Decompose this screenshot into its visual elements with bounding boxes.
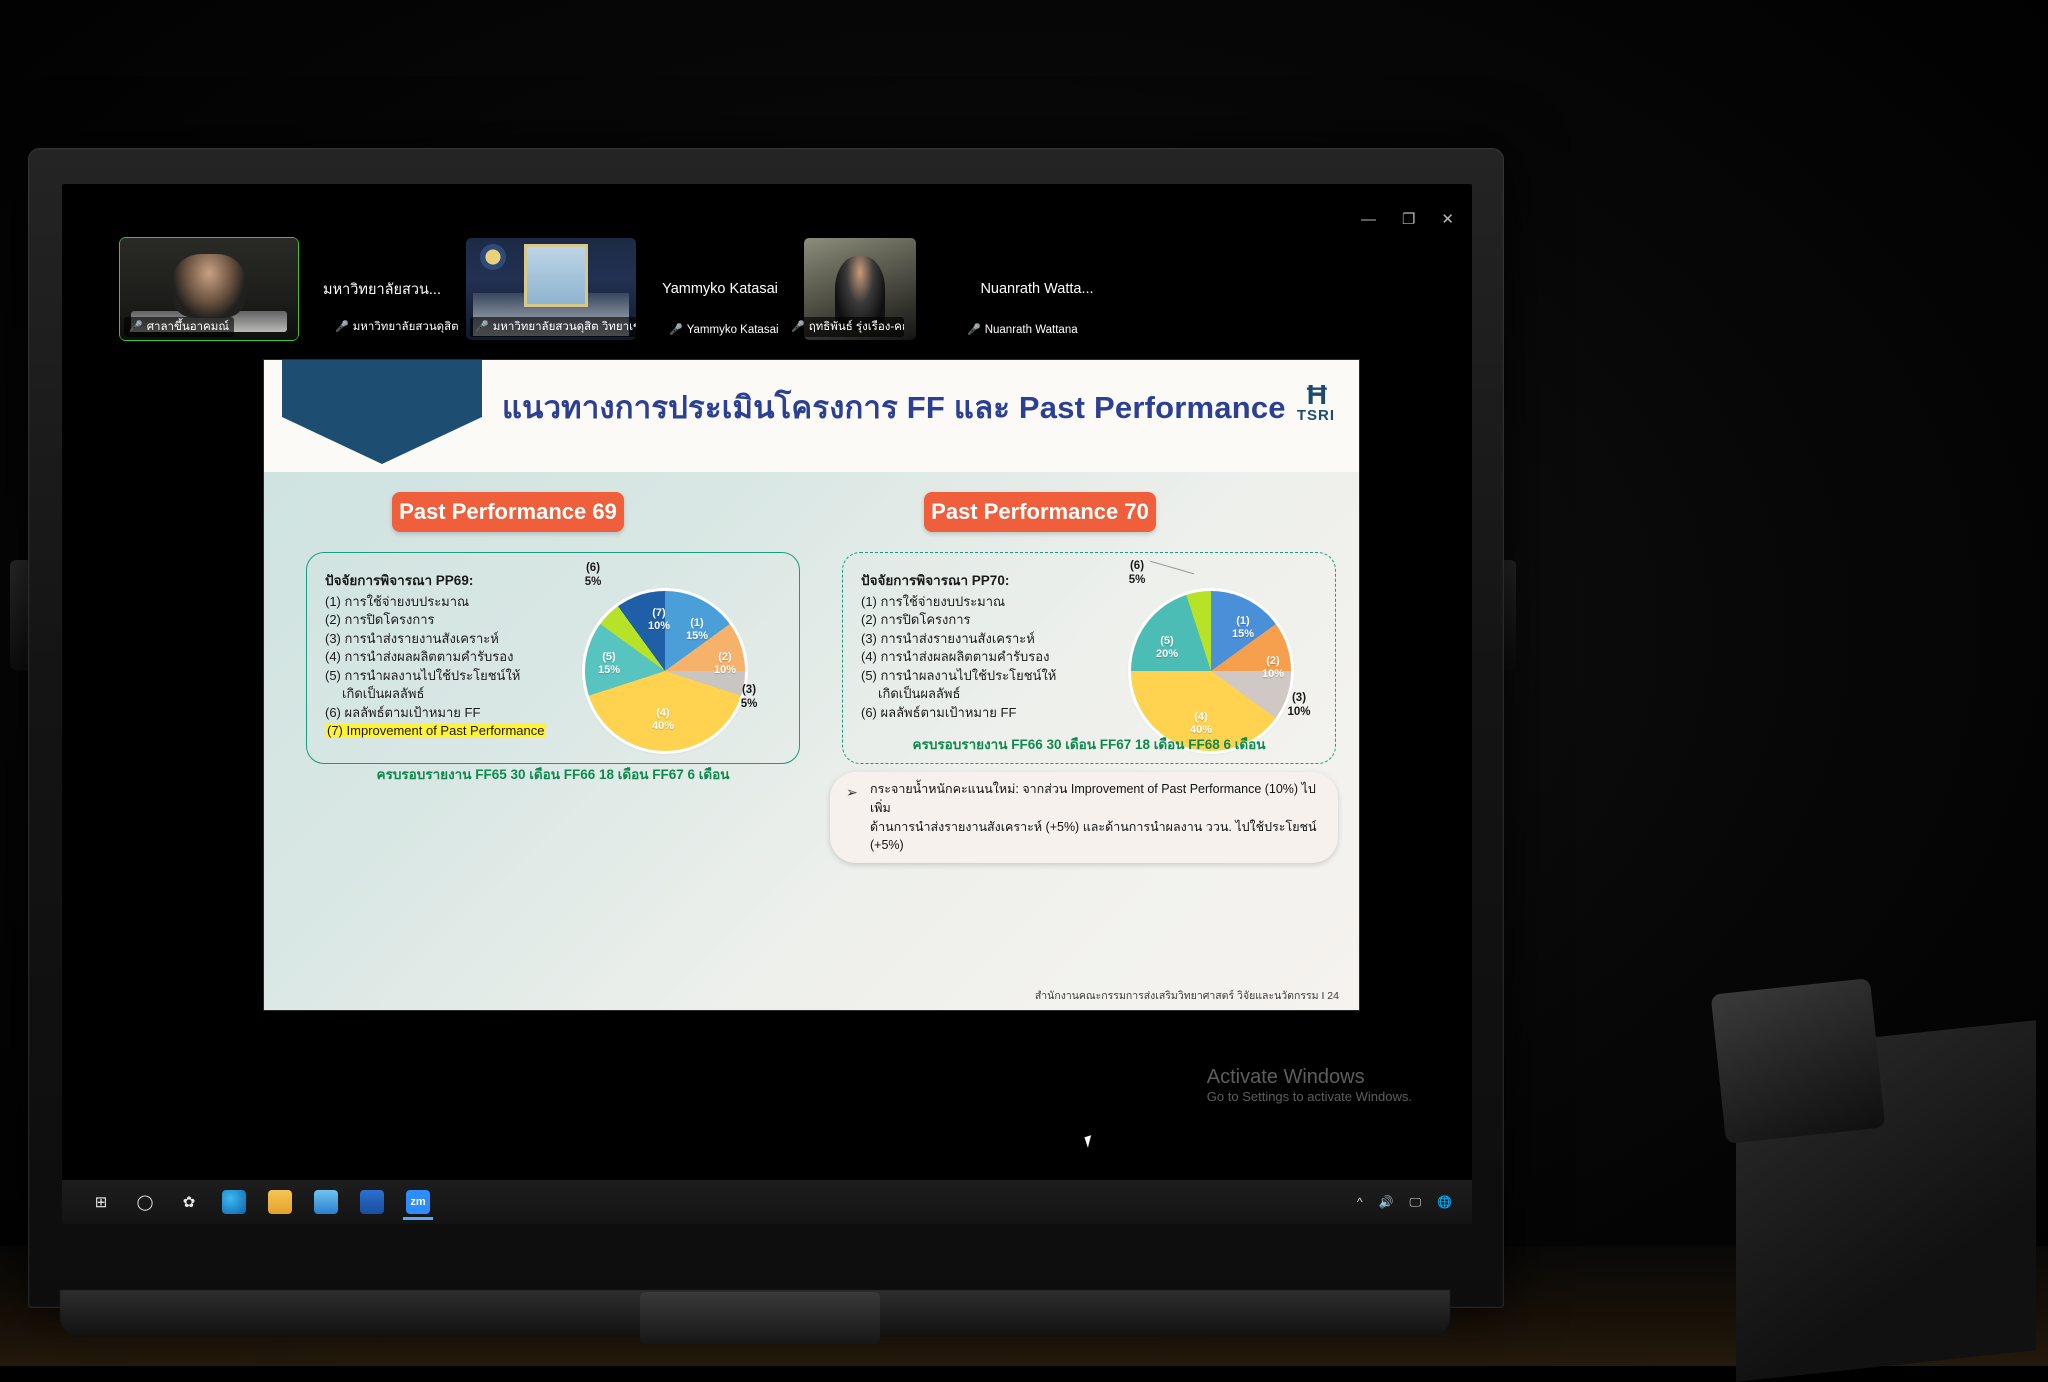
participant-nametag: 🎤 ศาลาขึ้นอาคมณ์ [124, 317, 234, 337]
pie-outside-label-6: (6)5% [571, 561, 615, 590]
pie-outside-label-6: (6)5% [1115, 559, 1159, 588]
participant-tile[interactable]: 🎤 ศาลาขึ้นอาคมณ์ [120, 238, 298, 340]
screenshot-stage: — ❐ ✕ 🎤 ศาลาขึ้นอาคมณ์ มหาวิทยาลัยสวน... [0, 0, 2048, 1366]
factor-list-pp70: ปัจจัยการพิจารณา PP70: (1) การใช้จ่ายงบป… [861, 569, 1101, 722]
arrow-bullet-icon: ➢ [846, 784, 858, 801]
list-item: (5) การนำผลงานไปใช้ประโยชน์ให้ [861, 667, 1101, 685]
participant-name: Yammyko Katasai [687, 324, 779, 336]
participant-name: Nuanrath Wattana [985, 324, 1078, 336]
zoom-participant-strip[interactable]: 🎤 ศาลาขึ้นอาคมณ์ มหาวิทยาลัยสวน... 🎤 มหา… [62, 238, 1472, 346]
pie-outside-label-3: (3)10% [1277, 691, 1321, 720]
pie-label-1: (1)15% [1221, 615, 1265, 640]
factor-list-heading: ปัจจัยการพิจารณา PP69: [325, 569, 565, 591]
microsoft-store-icon[interactable] [314, 1190, 338, 1214]
slide-body: Past Performance 69 Past Performance 70 … [264, 472, 1359, 1010]
muted-mic-icon: 🎤 [475, 322, 489, 333]
round-line-pp70: ครบรอบรายงาน FF66 30 เดือน FF67 18 เดือน… [843, 733, 1335, 755]
panel-pp70: ปัจจัยการพิจารณา PP70: (1) การใช้จ่ายงบป… [842, 552, 1336, 764]
participant-name: ศาลาขึ้นอาคมณ์ [147, 318, 229, 336]
screen: — ❐ ✕ 🎤 ศาลาขึ้นอาคมณ์ มหาวิทยาลัยสวน... [62, 184, 1472, 1224]
participant-nametag: 🎤 Nuanrath Wattana [962, 323, 1083, 337]
badge-past-performance-70: Past Performance 70 [924, 492, 1156, 532]
system-tray[interactable]: ^ 🔊 🖵 🌐 [1357, 1195, 1472, 1210]
tray-display-icon[interactable]: 🖵 [1409, 1195, 1421, 1210]
list-item: (2) การปิดโครงการ [861, 611, 1101, 629]
participant-name: มหาวิทยาลัยสวนดุสิต วิทยาเขตสุพรร... [493, 318, 636, 336]
outlook-icon[interactable] [360, 1190, 384, 1214]
list-item: (6) ผลลัพธ์ตามเป้าหมาย FF [861, 704, 1101, 722]
mouse-cursor [1084, 1135, 1094, 1148]
windows-taskbar[interactable]: ⊞ ◯ ✿ zm ^ 🔊 🖵 🌐 [62, 1180, 1472, 1224]
list-item: (1) การใช้จ่ายงบประมาณ [861, 593, 1101, 611]
callout-box: ➢ กระจายน้ำหนักคะแนนใหม่: จากส่วน Improv… [830, 772, 1338, 863]
list-item-continuation: เกิดเป็นผลลัพธ์ [325, 685, 565, 703]
edge-icon[interactable] [222, 1190, 246, 1214]
participant-nametag: 🎤 มหาวิทยาลัยสวนดุสิต วิทยาเขตสุพรร... [470, 317, 636, 337]
factor-list-pp69: ปัจจัยการพิจารณา PP69: (1) การใช้จ่ายงบป… [325, 569, 565, 741]
tsri-mark-icon: Ħ [1297, 382, 1335, 407]
participant-tile[interactable]: Yammyko Katasai 🎤 Yammyko Katasai [636, 238, 804, 340]
callout-line-1: กระจายน้ำหนักคะแนนใหม่: จากส่วน Improvem… [870, 780, 1322, 818]
list-item: (5) การนำผลงานไปใช้ประโยชน์ให้ [325, 667, 565, 685]
participant-nametag: 🎤 Yammyko Katasai [664, 323, 784, 337]
participant-tile[interactable]: 🎤 มหาวิทยาลัยสวนดุสิต วิทยาเขตสุพรร... [466, 238, 636, 340]
panel-pp69: ปัจจัยการพิจารณา PP69: (1) การใช้จ่ายงบป… [306, 552, 800, 764]
pie-label-5: (5)15% [587, 651, 631, 676]
highlight-text: (7) Improvement of Past Performance [325, 723, 546, 738]
participant-name: ฤทธิพันธ์ รุ่งเรือง-คณะวิทย์ [809, 318, 904, 336]
page-title: แนวทางการประเมินโครงการ FF และ Past Perf… [502, 382, 1286, 432]
badge-past-performance-69: Past Performance 69 [392, 492, 624, 532]
settings-icon[interactable]: ✿ [178, 1191, 200, 1213]
start-icon[interactable]: ⊞ [90, 1191, 112, 1213]
list-item: (4) การนำส่งผลผลิตตามคำรับรอง [861, 648, 1101, 666]
list-item: (3) การนำส่งรายงานสังเคราะห์ [861, 630, 1101, 648]
participant-tile[interactable]: Nuanrath Watta... 🎤 Nuanrath Wattana [942, 238, 1132, 340]
round-line-pp69: ครบรอบรายงาน FF65 30 เดือน FF66 18 เดือน… [307, 763, 799, 785]
side-equipment-2 [1711, 978, 1886, 1144]
window-controls[interactable]: — ❐ ✕ [1361, 210, 1454, 228]
list-item-highlighted: (7) Improvement of Past Performance [325, 722, 565, 740]
list-item: (3) การนำส่งรายงานสังเคราะห์ [325, 630, 565, 648]
file-explorer-icon[interactable] [268, 1190, 292, 1214]
participant-nametag: 🎤 มหาวิทยาลัยสวนดุสิต [330, 317, 464, 337]
mic-icon: 🎤 [129, 322, 143, 333]
participant-video: 🎤 ศาลาขึ้นอาคมณ์ [120, 238, 298, 340]
participant-video: 🎤 มหาวิทยาลัยสวนดุสิต วิทยาเขตสุพรร... [466, 238, 636, 340]
pie-label-2: (2)10% [1251, 655, 1295, 680]
muted-mic-icon: 🎤 [335, 322, 349, 333]
tsri-wordmark: TSRI [1297, 407, 1335, 424]
tray-volume-icon[interactable]: 🔊 [1379, 1195, 1394, 1209]
pie-label-4: (4)40% [641, 707, 685, 732]
slide-footer: สำนักงานคณะกรรมการส่งเสริมวิทยาศาสตร์ วิ… [1035, 987, 1339, 1004]
slide-header: แนวทางการประเมินโครงการ FF และ Past Perf… [264, 360, 1359, 472]
close-icon[interactable]: ✕ [1441, 210, 1454, 228]
minimize-icon[interactable]: — [1361, 211, 1376, 228]
pie-label-5: (5)20% [1145, 635, 1189, 660]
factor-list-heading: ปัจจัยการพิจารณา PP70: [861, 569, 1101, 591]
participant-name: มหาวิทยาลัยสวนดุสิต [353, 318, 459, 336]
room-emblem-icon [480, 244, 506, 270]
list-item-continuation: เกิดเป็นผลลัพธ์ [861, 685, 1101, 703]
chevron-decoration [282, 360, 482, 464]
pie-chart-pp70: (1)15% (2)10% (4)40% (5)20% (6)5% (3)10% [1121, 579, 1301, 759]
pie-label-7: (7)10% [637, 607, 681, 632]
muted-mic-icon: 🎤 [791, 322, 805, 333]
participant-tile[interactable]: 🎤 ฤทธิพันธ์ รุ่งเรือง-คณะวิทย์ [804, 238, 916, 340]
list-item: (2) การปิดโครงการ [325, 611, 565, 629]
pie-outside-label-3: (3)5% [727, 683, 771, 712]
list-item: (1) การใช้จ่ายงบประมาณ [325, 593, 565, 611]
windows-activation-watermark: Activate Windows Go to Settings to activ… [1207, 1066, 1412, 1104]
list-item: (6) ผลลัพธ์ตามเป้าหมาย FF [325, 704, 565, 722]
factor-items: (1) การใช้จ่ายงบประมาณ (2) การปิดโครงการ… [325, 593, 565, 741]
muted-mic-icon: 🎤 [967, 325, 981, 336]
participant-tile[interactable]: มหาวิทยาลัยสวน... 🎤 มหาวิทยาลัยสวนดุสิต [298, 238, 466, 340]
pie-label-2: (2)10% [703, 651, 747, 676]
pie-chart-pp69: (1)15% (2)10% (4)40% (5)15% (7)10% (6)5%… [575, 579, 755, 759]
search-icon[interactable]: ◯ [134, 1191, 156, 1213]
tsri-logo: Ħ TSRI [1297, 382, 1335, 424]
zoom-icon[interactable]: zm [406, 1190, 430, 1214]
muted-mic-icon: 🎤 [669, 325, 683, 336]
taskbar-apps[interactable]: ⊞ ◯ ✿ zm [62, 1190, 430, 1214]
watermark-line-2: Go to Settings to activate Windows. [1207, 1089, 1412, 1104]
presentation-slide: แนวทางการประเมินโครงการ FF และ Past Perf… [264, 360, 1359, 1010]
callout-line-2: ด้านการนำส่งรายงานสังเคราะห์ (+5%) และด้… [870, 818, 1322, 856]
watermark-line-1: Activate Windows [1207, 1066, 1412, 1089]
pie-label-1: (1)15% [675, 617, 719, 642]
tray-network-icon[interactable]: 🌐 [1437, 1195, 1452, 1209]
maximize-icon[interactable]: ❐ [1402, 210, 1415, 228]
participant-nametag: 🎤 ฤทธิพันธ์ รุ่งเรือง-คณะวิทย์ [786, 317, 904, 337]
monitor-stand [640, 1292, 880, 1344]
list-item: (4) การนำส่งผลผลิตตามคำรับรอง [325, 648, 565, 666]
monitor: — ❐ ✕ 🎤 ศาลาขึ้นอาคมณ์ มหาวิทยาลัยสวน... [28, 148, 1504, 1308]
tray-chevron-up-icon[interactable]: ^ [1357, 1195, 1363, 1209]
factor-items: (1) การใช้จ่ายงบประมาณ (2) การปิดโครงการ… [861, 593, 1101, 722]
